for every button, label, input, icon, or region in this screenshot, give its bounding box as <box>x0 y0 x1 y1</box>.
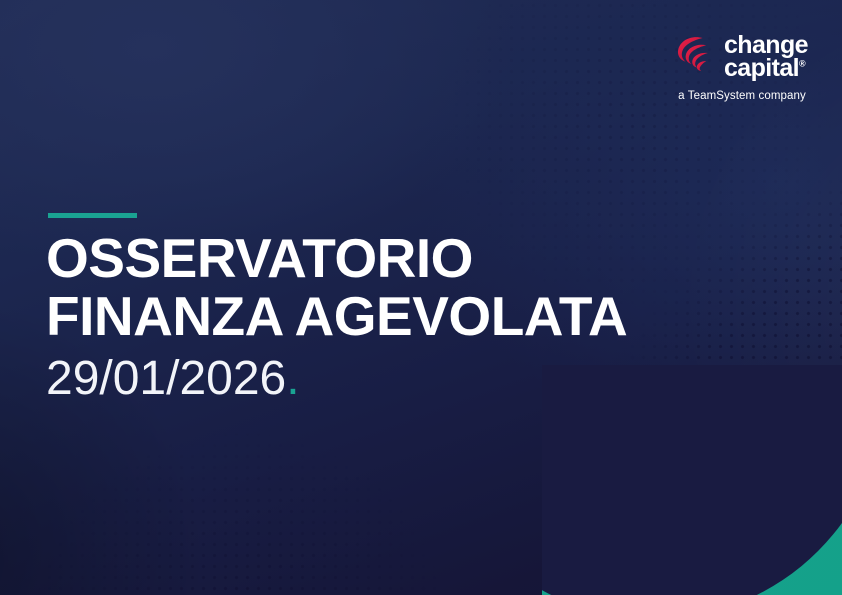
logo-word-capital: capital® <box>724 57 808 80</box>
page-title-line-2: FINANZA AGEVOLATA <box>46 288 746 346</box>
change-capital-swirl-icon <box>672 32 716 81</box>
title-block: OSSERVATORIO FINANZA AGEVOLATA 29/01/202… <box>46 230 746 404</box>
logo-word-capital-text: capital <box>724 54 799 82</box>
registered-trademark-icon: ® <box>799 58 806 68</box>
title-date-period: . <box>286 352 299 405</box>
logo-wordmark: change capital® <box>724 34 808 80</box>
logo-lockup: change capital® <box>672 32 812 81</box>
brand-logo: change capital® a TeamSystem company <box>672 32 812 102</box>
title-date-text: 29/01/2026 <box>46 352 286 405</box>
logo-tagline: a TeamSystem company <box>672 90 812 102</box>
title-date: 29/01/2026. <box>46 354 746 404</box>
teal-accent-rule <box>48 213 137 218</box>
presentation-title-slide: change capital® a TeamSystem company OSS… <box>0 0 842 595</box>
page-title-line-1: OSSERVATORIO <box>46 230 746 288</box>
